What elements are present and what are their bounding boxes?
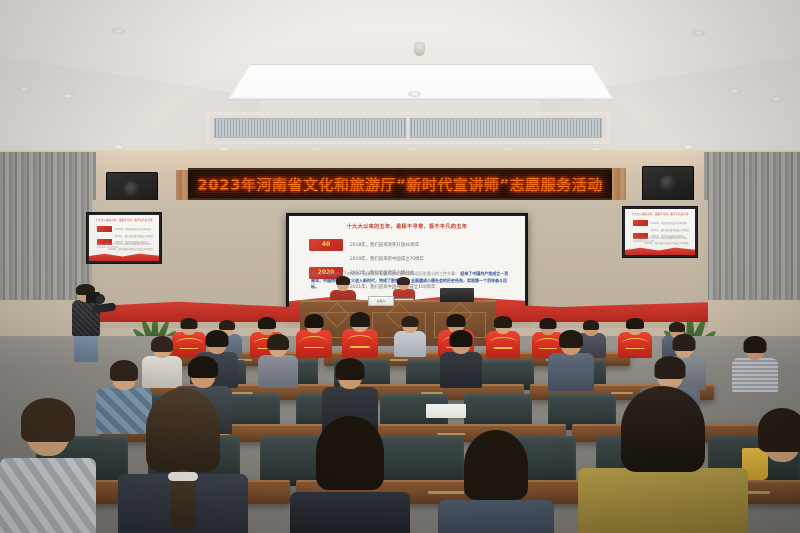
downlight-icon — [692, 30, 705, 36]
audience-person-foreground — [118, 388, 248, 533]
speaker-cone-icon — [660, 176, 677, 193]
ceiling — [0, 0, 800, 152]
person-hair — [626, 318, 644, 329]
right-monitor-row: 2018年，我们迎来改革开放40周年 — [633, 220, 689, 226]
podium-nameplate: 主持人 — [368, 296, 394, 306]
right-monitor-badge — [633, 220, 648, 226]
person-hair — [151, 336, 173, 352]
person-torso — [0, 458, 96, 533]
right-monitor-row-text: 2019年，我们迎来新中国成立70周年 — [650, 228, 689, 232]
hvac-vent-icon — [410, 118, 602, 138]
slide-presenter-hair — [397, 277, 410, 285]
podium-equipment — [440, 288, 474, 302]
person-hair — [402, 316, 419, 327]
volunteer-person — [342, 312, 378, 356]
audience-person — [732, 336, 778, 390]
slide-badge-spacer — [309, 253, 343, 265]
right-monitor-row-text: 2018年，我们迎来改革开放40周年 — [651, 221, 687, 225]
person-hair — [559, 330, 583, 348]
person-hair — [540, 318, 557, 329]
right-monitor-title: 十九大以来的五年，是极不寻常、极不平凡的五年 — [625, 212, 695, 216]
left-monitor-badge — [97, 226, 112, 232]
volunteer-vest — [486, 331, 520, 358]
slide-badge-number: 40 — [322, 242, 330, 248]
person-hair — [669, 322, 685, 332]
audience-person-foreground — [578, 386, 748, 533]
left-monitor-footer: 五年来，我们经历了对党和人民事业具有重大现实意义和深远历史意义的三件大事： — [97, 244, 153, 250]
left-monitor-row-text: 2018年，我们迎来改革开放40周年 — [115, 227, 151, 231]
vest-arc-text — [490, 337, 517, 343]
volunteer-person — [296, 314, 332, 356]
person-torso — [290, 492, 410, 533]
ceiling-light-panel — [228, 64, 614, 100]
person-hair — [267, 334, 289, 350]
photographer — [62, 284, 114, 362]
volunteer-vest — [296, 330, 332, 358]
hvac-vent-icon — [214, 118, 406, 138]
slide-title: 十九大以来的五年，是极不寻常、极不平凡的五年 — [289, 223, 525, 230]
right-monitor-badge-spacer — [633, 227, 647, 233]
photographer-legs — [74, 334, 98, 362]
left-monitor-row-text: 2019年，我们迎来新中国成立70周年 — [114, 234, 153, 238]
volunteer-person — [618, 318, 652, 356]
person-hair — [21, 398, 75, 442]
person-hair — [758, 408, 800, 452]
downlight-icon — [112, 28, 125, 34]
handout-paper — [426, 404, 466, 418]
sprinkler-head-icon — [414, 42, 425, 56]
downlight-icon — [408, 91, 421, 97]
audience-person-foreground — [438, 430, 554, 533]
right-monitor-wave — [625, 246, 695, 255]
right-wall-monitor: 十九大以来的五年，是极不寻常、极不平凡的五年 2018年，我们迎来改革开放40周… — [622, 206, 698, 258]
person-hair — [305, 314, 324, 328]
conference-hall-photo: 2023年河南省文化和旅游厅“新时代宣讲师”志愿服务活动 十九大以来的五年，是极… — [0, 0, 800, 533]
vest-arc-text — [300, 336, 328, 343]
person-hair — [181, 318, 198, 329]
person-hair — [494, 316, 512, 328]
volunteer-person — [486, 316, 520, 356]
person-torso — [742, 468, 800, 533]
audience-person — [440, 330, 482, 386]
person-hair — [146, 388, 220, 472]
audience-person — [394, 316, 426, 356]
left-monitor-badge-spacer — [97, 233, 111, 239]
bench-plate — [390, 359, 408, 361]
left-monitor-row: 2018年，我们迎来改革开放40周年 — [97, 226, 153, 232]
audience-person-foreground — [742, 408, 800, 533]
slide-badge: 40 — [309, 239, 343, 251]
slide-row-text: 2018年，我们迎来改革开放40周年 — [350, 242, 419, 248]
camera-icon — [86, 292, 100, 303]
left-monitor-wave — [89, 252, 159, 261]
vest-sub-text — [350, 346, 370, 348]
downlight-icon — [770, 96, 783, 102]
led-banner: 2023年河南省文化和旅游厅“新时代宣讲师”志愿服务活动 — [188, 168, 612, 200]
vest-sub-text — [625, 348, 644, 350]
wall-speaker-right — [642, 166, 694, 202]
left-monitor-slide: 十九大以来的五年，是极不寻常、极不平凡的五年 2018年，我们迎来改革开放40周… — [89, 215, 159, 261]
person-hair — [188, 356, 218, 378]
downlight-icon — [728, 88, 741, 94]
person-hair — [744, 336, 767, 353]
right-monitor-footer: 五年来，我们经历了对党和人民事业具有重大现实意义和深远历史意义的三件大事： — [633, 238, 689, 244]
volunteer-vest — [342, 329, 378, 358]
person-hair — [450, 330, 473, 347]
ceiling-light-diffuser — [231, 67, 611, 97]
podium-nameplate-text: 主持人 — [376, 299, 385, 303]
person-hair — [219, 320, 235, 330]
slide-row: 40 2018年，我们迎来改革开放40周年 — [309, 238, 513, 251]
person-hair — [336, 358, 365, 380]
slide-row-text: 2019年，我们迎来新中国成立70周年 — [350, 256, 424, 262]
person-torso — [394, 331, 426, 357]
photographer-arm — [92, 302, 117, 313]
left-monitor-title: 十九大以来的五年，是极不寻常、极不平凡的五年 — [89, 218, 159, 222]
vest-sub-text — [493, 347, 512, 349]
led-banner-text: 2023年河南省文化和旅游厅“新时代宣讲师”志愿服务活动 — [197, 174, 602, 195]
slide-footer-prefix: 五年来，我们经历了对党和人民事业具有重大现实意义和深远历史意义的三件大事： — [311, 271, 459, 276]
downlight-icon — [18, 86, 31, 92]
speaker-cone-icon — [124, 182, 141, 199]
audience-person — [258, 334, 298, 386]
person-hair — [110, 360, 138, 381]
person-hair — [316, 416, 384, 490]
hair-tie — [168, 472, 198, 481]
person-hair — [447, 314, 466, 327]
person-torso — [578, 468, 748, 533]
person-torso — [440, 352, 482, 388]
person-torso — [438, 500, 554, 533]
person-hair — [350, 312, 370, 327]
volunteer-vest — [618, 332, 652, 358]
audience-person-foreground — [0, 398, 96, 533]
person-hair — [621, 386, 705, 472]
person-hair — [655, 356, 686, 379]
downlight-icon — [62, 93, 75, 99]
person-hair — [206, 330, 229, 347]
vest-arc-text — [346, 335, 374, 342]
audience-person-foreground — [290, 416, 410, 533]
audience-person — [548, 330, 594, 388]
vest-arc-text — [622, 338, 649, 344]
person-hair — [673, 334, 696, 351]
person-hair — [258, 317, 276, 329]
left-wall-monitor: 十九大以来的五年，是极不寻常、极不平凡的五年 2018年，我们迎来改革开放40周… — [86, 212, 162, 264]
right-monitor-row: 2019年，我们迎来新中国成立70周年 — [633, 227, 689, 233]
right-monitor-slide: 十九大以来的五年，是极不寻常、极不平凡的五年 2018年，我们迎来改革开放40周… — [625, 209, 695, 255]
podium-presenter-hair — [336, 276, 350, 285]
person-hair — [583, 320, 599, 330]
slide-row: 2019年，我们迎来新中国成立70周年 — [309, 252, 513, 265]
person-hair — [464, 430, 528, 500]
left-monitor-row: 2019年，我们迎来新中国成立70周年 — [97, 233, 153, 239]
vest-sub-text — [304, 347, 324, 349]
person-torso — [258, 355, 298, 388]
